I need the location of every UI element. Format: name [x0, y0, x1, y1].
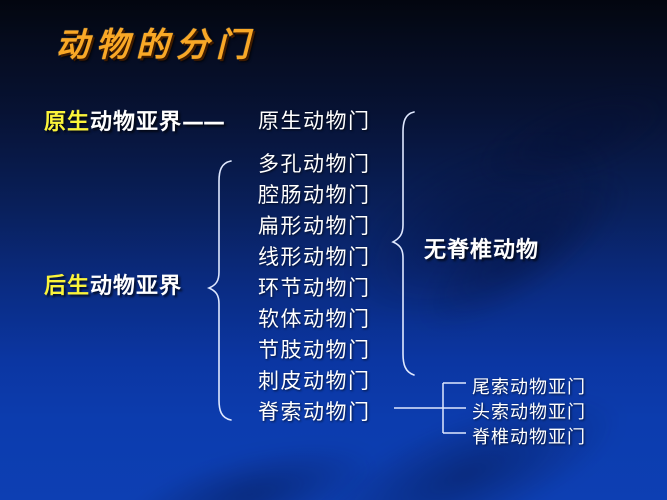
background-streak: [463, 60, 667, 210]
protozoa-connector-dash: ——: [182, 110, 224, 135]
subkingdom-protozoa: 原生动物亚界——: [44, 104, 224, 136]
phylum-list-item: 节肢动物门: [258, 334, 371, 364]
subphylum-list-item: 头索动物亚门: [472, 398, 586, 424]
group-label-invertebrates: 无脊椎动物: [424, 232, 539, 264]
phylum-list-item: 腔肠动物门: [258, 179, 371, 209]
subphylum-list-item: 脊椎动物亚门: [472, 423, 586, 449]
subkingdom-metazoa-highlight: 后生: [44, 274, 90, 299]
subkingdom-protozoa-rest: 动物亚界: [90, 110, 182, 135]
slide-title: 动物的分门: [56, 18, 256, 66]
subkingdom-protozoa-highlight: 原生: [44, 110, 90, 135]
subphylum-list-item: 尾索动物亚门: [472, 373, 586, 399]
phylum-list-item: 刺皮动物门: [258, 365, 371, 395]
phylum-list-item: 多孔动物门: [258, 148, 371, 178]
slide-canvas: 动物的分门 原生动物亚界—— 原生动物门 后生动物亚界 多孔动物门 腔肠动物门 …: [0, 0, 667, 500]
phylum-list-item: 环节动物门: [258, 272, 371, 302]
subkingdom-metazoa: 后生动物亚界: [44, 268, 182, 300]
brace-metazoa: [209, 161, 231, 420]
phylum-list-item: 软体动物门: [258, 303, 371, 333]
phylum-list-item: 脊索动物门: [258, 396, 371, 426]
phylum-list-item: 线形动物门: [258, 241, 371, 271]
subkingdom-metazoa-rest: 动物亚界: [90, 274, 182, 299]
phylum-list-item: 扁形动物门: [258, 210, 371, 240]
background-streak: [114, 425, 386, 500]
brace-invertebrates: [393, 112, 414, 375]
phylum-protozoa: 原生动物门: [258, 105, 371, 135]
